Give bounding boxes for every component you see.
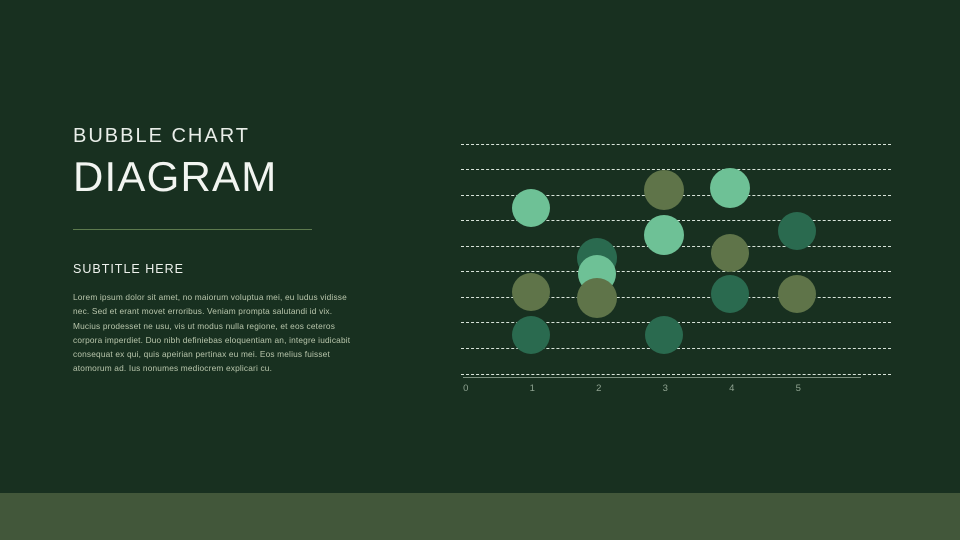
footer-bar	[0, 493, 960, 540]
chart-bubble[interactable]	[577, 278, 617, 318]
chart-bubble[interactable]	[711, 234, 749, 272]
bubble-chart	[461, 132, 891, 394]
x-tick-label: 3	[663, 383, 669, 394]
chart-bubble[interactable]	[512, 189, 550, 227]
x-axis-line	[463, 377, 861, 378]
subtitle-label: SUBTITLE HERE	[73, 263, 363, 277]
chart-bubble[interactable]	[512, 273, 550, 311]
text-panel: BUBBLE CHART DIAGRAM SUBTITLE HERE Lorem…	[73, 125, 363, 376]
body-paragraph: Lorem ipsum dolor sit amet, no maiorum v…	[73, 290, 354, 376]
chart-bubble[interactable]	[710, 168, 750, 208]
x-tick-label: 2	[596, 383, 602, 394]
x-axis-tick-labels: 012345	[461, 383, 871, 399]
chart-bubbles	[461, 132, 891, 394]
chart-bubble[interactable]	[778, 275, 816, 313]
x-tick-label: 0	[463, 383, 469, 394]
title-divider	[73, 229, 312, 230]
chart-bubble[interactable]	[644, 170, 684, 210]
x-tick-label: 1	[530, 383, 536, 394]
slide-canvas: BUBBLE CHART DIAGRAM SUBTITLE HERE Lorem…	[0, 0, 960, 540]
x-tick-label: 4	[729, 383, 735, 394]
chart-bubble[interactable]	[512, 316, 550, 354]
x-tick-label: 5	[796, 383, 802, 394]
chart-bubble[interactable]	[644, 215, 684, 255]
chart-bubble[interactable]	[778, 212, 816, 250]
chart-bubble[interactable]	[645, 316, 683, 354]
eyebrow-label: BUBBLE CHART	[73, 125, 363, 147]
page-title: DIAGRAM	[73, 153, 363, 201]
chart-bubble[interactable]	[711, 275, 749, 313]
